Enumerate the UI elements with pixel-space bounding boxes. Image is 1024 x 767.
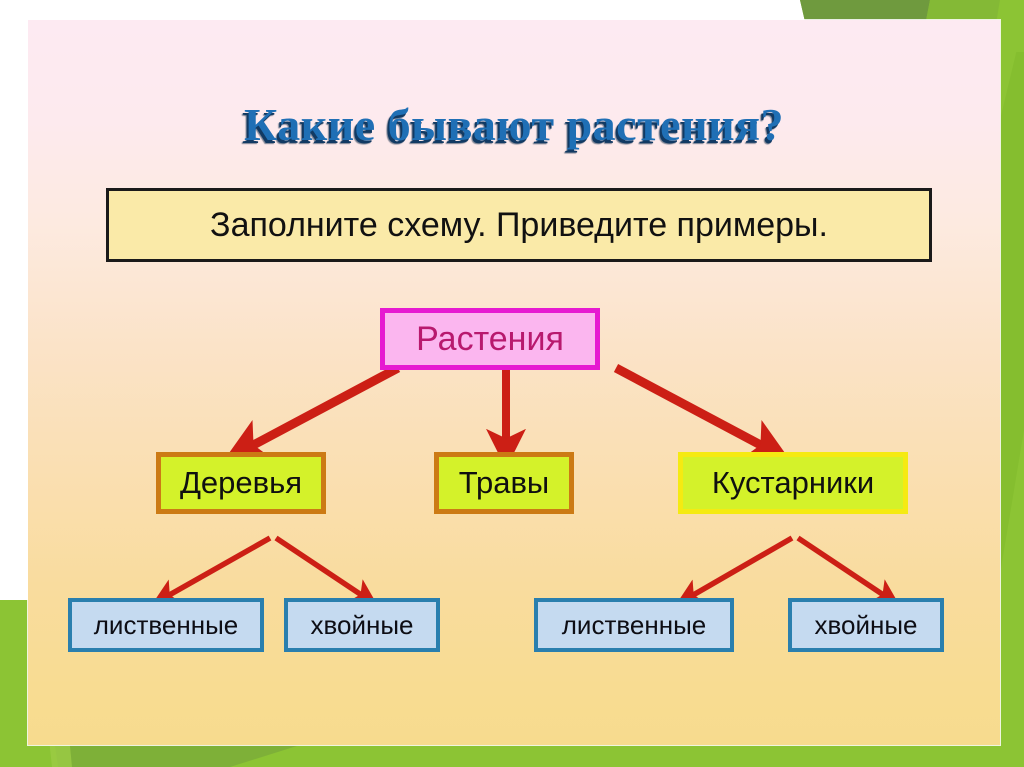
arrow-shrubs-to-coniferous xyxy=(798,538,888,598)
arrow-root-to-trees xyxy=(244,368,398,450)
node-shrubs-deciduous[interactable]: лиственные xyxy=(534,598,734,652)
node-shrubs-coniferous-label: хвойные xyxy=(814,610,917,641)
node-trees-coniferous-label: хвойные xyxy=(310,610,413,641)
node-trees-label: Деревья xyxy=(180,465,302,501)
node-grasses[interactable]: Травы xyxy=(434,452,574,514)
node-shrubs-coniferous[interactable]: хвойные xyxy=(788,598,944,652)
node-shrubs-deciduous-label: лиственные xyxy=(562,610,706,641)
node-plants[interactable]: Растения xyxy=(380,308,600,370)
arrow-shrubs-to-deciduous xyxy=(688,538,792,598)
node-trees-deciduous[interactable]: лиственные xyxy=(68,598,264,652)
node-plants-label: Растения xyxy=(416,320,564,359)
arrow-root-to-shrubs xyxy=(616,368,770,450)
node-trees-coniferous[interactable]: хвойные xyxy=(284,598,440,652)
arrow-trees-to-coniferous xyxy=(276,538,366,598)
content-panel: Какие бывают растения? Заполните схему. … xyxy=(28,20,1000,745)
node-shrubs[interactable]: Кустарники xyxy=(678,452,908,514)
node-shrubs-label: Кустарники xyxy=(712,465,874,501)
plant-classification-diagram: Растения Деревья Травы Кустарники листве… xyxy=(28,20,1000,745)
node-grasses-label: Травы xyxy=(459,465,549,501)
node-trees-deciduous-label: лиственные xyxy=(94,610,238,641)
node-trees[interactable]: Деревья xyxy=(156,452,326,514)
slide-canvas: Какие бывают растения? Заполните схему. … xyxy=(0,0,1024,767)
arrow-trees-to-deciduous xyxy=(164,538,270,598)
